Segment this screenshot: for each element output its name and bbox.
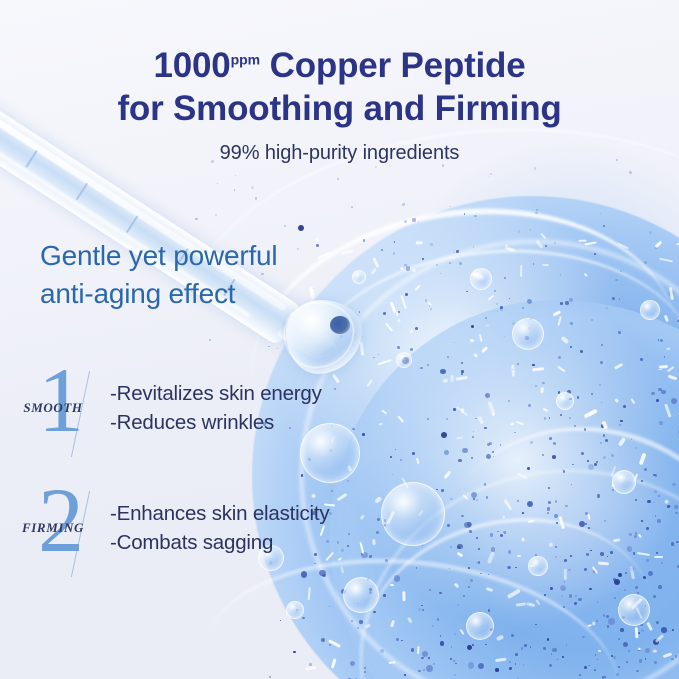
headline-amount: 1000 xyxy=(154,46,231,85)
benefit-item-1: 1 SMOOTH -Revitalizes skin energy -Reduc… xyxy=(18,360,322,456)
headline-line-1: 1000ppm Copper Peptide xyxy=(0,44,679,87)
product-graphic: 1000ppm Copper Peptide for Smoothing and… xyxy=(0,0,679,679)
page-title: 1000ppm Copper Peptide for Smoothing and… xyxy=(0,44,679,131)
section-heading: Gentle yet powerful anti-aging effect xyxy=(40,237,277,313)
benefit-label: SMOOTH xyxy=(10,400,96,416)
subtitle: 99% high-purity ingredients xyxy=(0,142,679,165)
benefit-label: FIRMING xyxy=(10,520,96,536)
headline-unit: ppm xyxy=(231,51,261,67)
benefit-description: -Revitalizes skin energy -Reduces wrinkl… xyxy=(110,379,322,437)
text-content: 1000ppm Copper Peptide for Smoothing and… xyxy=(0,0,679,679)
benefit-number-badge: 2 FIRMING xyxy=(18,480,104,576)
benefit-item-2: 2 FIRMING -Enhances skin elasticity -Com… xyxy=(18,480,329,576)
headline-ingredient: Copper Peptide xyxy=(260,46,525,85)
benefit-description: -Enhances skin elasticity -Combats saggi… xyxy=(110,499,329,557)
headline-line-2: for Smoothing and Firming xyxy=(0,87,679,130)
benefit-number-badge: 1 SMOOTH xyxy=(18,360,104,456)
